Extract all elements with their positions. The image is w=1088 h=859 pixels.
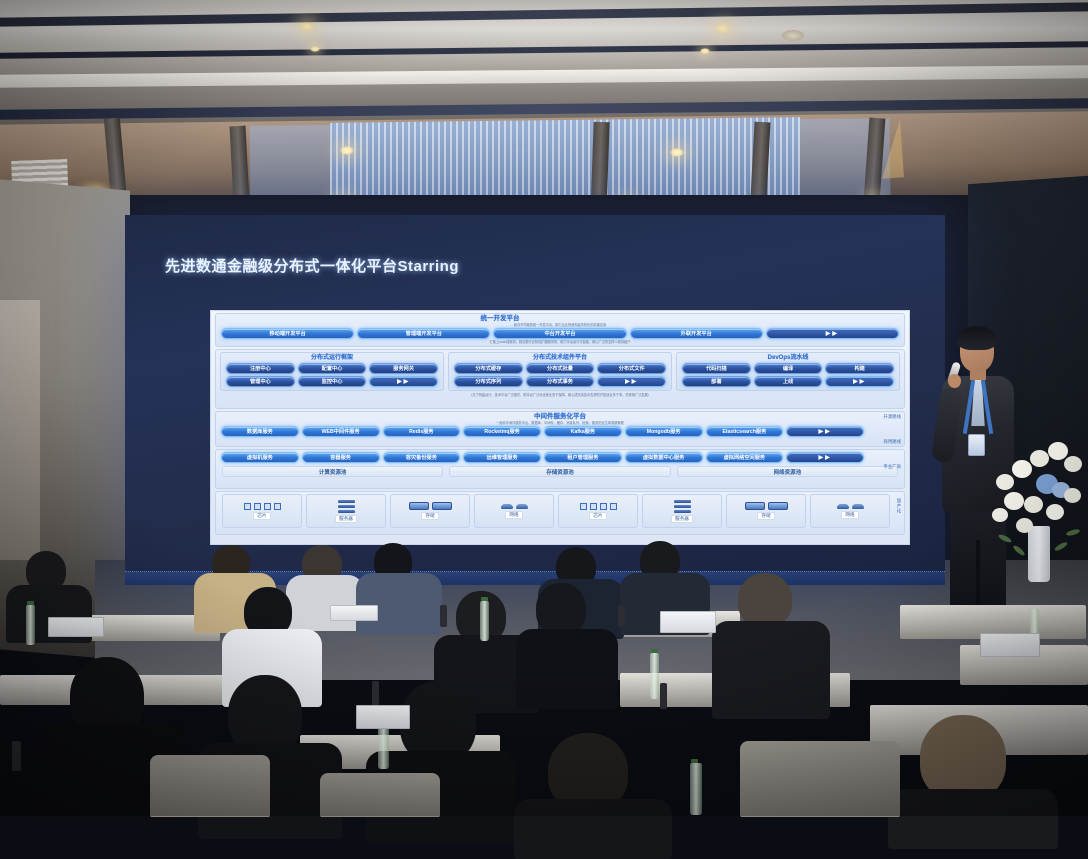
band-dev-platform: 统一开发平台 面向不同端的统一开发平台，助力企业快速构建多样化的前端应用 移动端… bbox=[215, 313, 905, 347]
pill-registry-center[interactable]: 注册中心 bbox=[226, 363, 295, 374]
conference-scene: 先进数通金融级分布式一体化平台Starring 统一开发平台 面向不同端的统一开… bbox=[0, 0, 1088, 816]
network-icon bbox=[837, 504, 864, 509]
pill-monitor-center[interactable]: 监控中心 bbox=[298, 376, 367, 387]
pill-more-devops[interactable]: ▶▶ bbox=[825, 376, 894, 387]
pill-distributed-sequence[interactable]: 分布式序列 bbox=[454, 376, 523, 387]
resource-pool-row: 计算资源池 存储资源池 网络资源池 bbox=[216, 464, 904, 479]
hardware-label-server-1: 服务器 bbox=[335, 515, 357, 523]
dev-platform-pills: 移动端开发平台 管理端开发平台 中台开发平台 外联开发平台 ▶▶ bbox=[216, 327, 904, 340]
bottle-cap bbox=[651, 649, 658, 653]
band-cloud-resource: 虚拟机服务 容器服务 容灾备份服务 运维管理服务 租户管理服务 虚拟数据中心服务… bbox=[215, 449, 905, 489]
pill-container-service[interactable]: 容器服务 bbox=[302, 452, 380, 463]
pill-more-middleware[interactable]: ▶▶ bbox=[786, 426, 864, 437]
tech-components-header: 分布式技术组件平台 bbox=[449, 353, 671, 362]
name-tent-card bbox=[356, 705, 410, 729]
devops-pipeline-header: DevOps流水线 bbox=[677, 353, 899, 362]
pill-deploy[interactable]: 部署 bbox=[682, 376, 751, 387]
bottle-cap bbox=[481, 597, 488, 601]
audience bbox=[0, 545, 1088, 816]
water-bottle bbox=[690, 763, 702, 815]
tabletop-microphone bbox=[440, 605, 447, 627]
band-middle-columns: 分布式运行框架 注册中心 配置中心 服务网关 管理中心 监控中心 ▶▶ bbox=[215, 349, 905, 409]
side-label-vendor: 专业厂商 bbox=[883, 464, 901, 470]
side-label-opensource: 开源路线 bbox=[883, 414, 901, 420]
pill-web-middleware-service[interactable]: WEB中间件服务 bbox=[302, 426, 380, 437]
middle-column-group: 分布式运行框架 注册中心 配置中心 服务网关 管理中心 监控中心 ▶▶ bbox=[216, 352, 904, 391]
hardware-server-2[interactable]: 服务器 bbox=[642, 494, 722, 528]
pill-mongodb-service[interactable]: Mongodb服务 bbox=[625, 426, 703, 437]
hardware-chip-2[interactable]: 芯片 bbox=[558, 494, 638, 528]
pill-more-runtime[interactable]: ▶▶ bbox=[369, 376, 438, 387]
hardware-label-server-2: 服务器 bbox=[671, 515, 693, 523]
name-tent-card bbox=[48, 617, 104, 637]
presentation-screen: 先进数通金融级分布式一体化平台Starring 统一开发平台 面向不同端的统一开… bbox=[125, 215, 945, 585]
pill-distributed-batch[interactable]: 分布式批量 bbox=[526, 363, 595, 374]
water-bottle bbox=[26, 605, 35, 645]
slide-title: 先进数通金融级分布式一体化平台Starring bbox=[165, 255, 459, 276]
pill-mobile-dev[interactable]: 移动端开发平台 bbox=[221, 328, 354, 339]
band-middleware: 中间件服务化平台 一面向中间件服务平台，数据库、中间件、缓存、消息队列、检索、服… bbox=[215, 411, 905, 447]
hardware-label-storage-1: 存储 bbox=[421, 512, 438, 520]
storage-icon bbox=[409, 502, 452, 510]
tabletop-microphone bbox=[660, 683, 667, 709]
chip-icon bbox=[580, 503, 617, 510]
name-tent-card bbox=[660, 611, 716, 633]
network-icon bbox=[501, 504, 528, 509]
runtime-framework-header: 分布式运行框架 bbox=[221, 353, 443, 362]
hardware-storage-2[interactable]: 存储 bbox=[726, 494, 806, 528]
pool-compute[interactable]: 计算资源池 bbox=[222, 466, 443, 477]
ceiling bbox=[0, 0, 1088, 205]
pill-config-center[interactable]: 配置中心 bbox=[298, 363, 367, 374]
hardware-label-chip-1: 芯片 bbox=[253, 512, 270, 520]
bottle-cap bbox=[27, 601, 34, 605]
pill-release[interactable]: 上线 bbox=[754, 376, 823, 387]
side-label-commercial: 商用路线 bbox=[883, 439, 901, 445]
tabletop-microphone bbox=[618, 605, 625, 627]
pill-kafka-service[interactable]: Kafka服务 bbox=[544, 426, 622, 437]
pill-virtual-network-service[interactable]: 虚拟网络空间服务 bbox=[706, 452, 784, 463]
pill-virtual-datacenter-service[interactable]: 虚拟数据中心服务 bbox=[625, 452, 703, 463]
hardware-chip-1[interactable]: 芯片 bbox=[222, 494, 302, 528]
server-icon bbox=[674, 500, 691, 513]
pill-vm-service[interactable]: 虚拟机服务 bbox=[221, 452, 299, 463]
pill-database-service[interactable]: 数据库服务 bbox=[221, 426, 299, 437]
hardware-row: 芯片 服务器 存储 bbox=[216, 492, 904, 531]
band-hardware: 芯片 服务器 存储 bbox=[215, 491, 905, 535]
server-icon bbox=[338, 500, 355, 513]
column-tech-components: 分布式技术组件平台 分布式缓存 分布式批量 分布式文件 分布式序列 分布式事务 … bbox=[448, 352, 672, 391]
pill-admin-dev[interactable]: 管理端开发平台 bbox=[357, 328, 490, 339]
left-wall-panel bbox=[0, 300, 40, 560]
hardware-network-2[interactable]: 网络 bbox=[810, 494, 890, 528]
name-tent-card bbox=[980, 633, 1040, 657]
slide-content: 统一开发平台 面向不同端的统一开发平台，助力企业快速构建多样化的前端应用 移动端… bbox=[210, 310, 910, 545]
name-tent-card bbox=[330, 605, 378, 621]
pool-network[interactable]: 网络资源池 bbox=[677, 466, 898, 477]
hardware-network-1[interactable]: 网络 bbox=[474, 494, 554, 528]
hardware-label-network-1: 网络 bbox=[505, 511, 522, 519]
side-label-localization: 国产化 bbox=[896, 498, 902, 514]
dev-platform-footnote: 汇集上once线原则，统合银行业特性扩展服务的，助力平台运行与智能，助心广泛的支… bbox=[216, 340, 904, 344]
column-runtime-framework: 分布式运行框架 注册中心 配置中心 服务网关 管理中心 监控中心 ▶▶ bbox=[220, 352, 444, 391]
tabletop-microphone bbox=[372, 681, 379, 707]
pill-midplatform-dev[interactable]: 中台开发平台 bbox=[493, 328, 626, 339]
pill-service-gateway[interactable]: 服务网关 bbox=[369, 363, 438, 374]
chip-icon bbox=[244, 503, 281, 510]
pill-tenant-manage-service[interactable]: 租户管理服务 bbox=[544, 452, 622, 463]
middle-columns-footnote: （共了构建运行、技术平台广泛组件、助平台广泛对全栈业务于保障，助心成完善技术支撑… bbox=[216, 391, 904, 397]
pill-manage-center[interactable]: 管理中心 bbox=[226, 376, 295, 387]
pill-distributed-cache[interactable]: 分布式缓存 bbox=[454, 363, 523, 374]
water-bottle bbox=[650, 653, 659, 699]
pill-external-dev[interactable]: 外联开发平台 bbox=[630, 328, 763, 339]
middleware-header: 中间件服务化平台 bbox=[216, 412, 904, 421]
hardware-label-storage-2: 存储 bbox=[757, 512, 774, 520]
pill-more-dev[interactable]: ▶▶ bbox=[766, 328, 899, 339]
bottle-cap bbox=[691, 759, 698, 763]
floral-arrangement bbox=[990, 430, 1088, 550]
ceiling-projector-dome bbox=[782, 30, 804, 41]
storage-icon bbox=[745, 502, 788, 510]
water-bottle bbox=[480, 601, 489, 641]
pill-distributed-file[interactable]: 分布式文件 bbox=[597, 363, 666, 374]
chair bbox=[320, 773, 440, 817]
pill-elasticsearch-service[interactable]: Elasticsearch服务 bbox=[706, 426, 784, 437]
tabletop-microphone bbox=[12, 741, 21, 771]
pill-rocketmq-service[interactable]: Rocketmq服务 bbox=[463, 426, 541, 437]
presenter-badge bbox=[968, 434, 985, 456]
dev-platform-header: 统一开发平台 bbox=[216, 314, 904, 323]
pill-more-cloud[interactable]: ▶▶ bbox=[786, 452, 864, 463]
pill-compile[interactable]: 编译 bbox=[754, 363, 823, 374]
pill-more-components[interactable]: ▶▶ bbox=[597, 376, 666, 387]
hardware-storage-1[interactable]: 存储 bbox=[390, 494, 470, 528]
ceiling-louver-panel bbox=[330, 117, 800, 205]
hardware-label-chip-2: 芯片 bbox=[589, 512, 606, 520]
hardware-label-network-2: 网络 bbox=[841, 511, 858, 519]
pool-storage[interactable]: 存储资源池 bbox=[449, 466, 670, 477]
pill-code-scan[interactable]: 代码扫描 bbox=[682, 363, 751, 374]
hardware-server-1[interactable]: 服务器 bbox=[306, 494, 386, 528]
pill-build[interactable]: 构建 bbox=[825, 363, 894, 374]
column-devops-pipeline: DevOps流水线 代码扫描 编译 构建 部署 上线 ▶▶ bbox=[676, 352, 900, 391]
chair bbox=[150, 755, 270, 817]
pill-ops-manage-service[interactable]: 运维管理服务 bbox=[463, 452, 541, 463]
pill-dr-backup-service[interactable]: 容灾备份服务 bbox=[383, 452, 461, 463]
pill-redis-service[interactable]: Redis服务 bbox=[383, 426, 461, 437]
chair bbox=[740, 741, 900, 817]
pill-distributed-transaction[interactable]: 分布式事务 bbox=[526, 376, 595, 387]
